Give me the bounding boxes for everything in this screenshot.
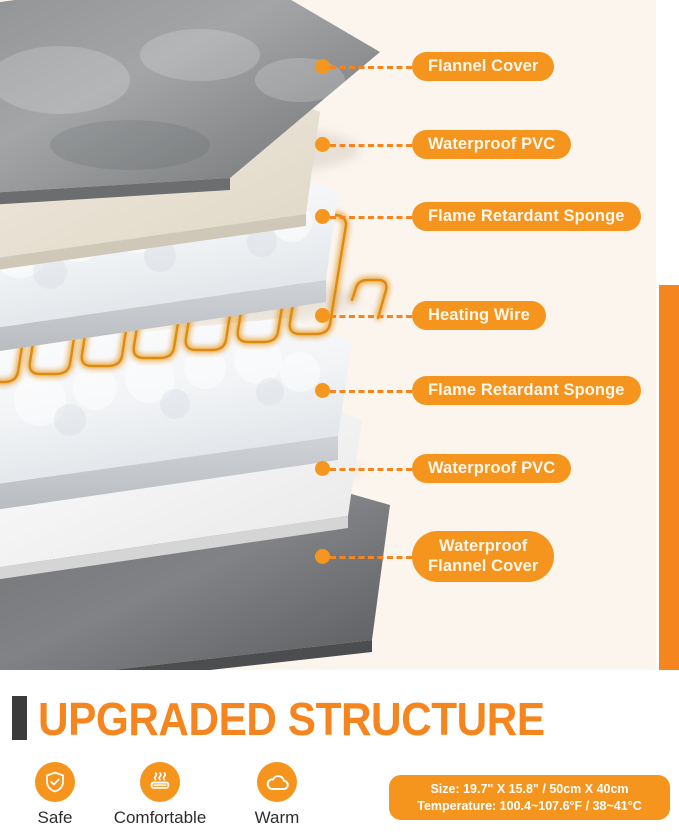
spec-temperature: Temperature: 100.4~107.6°F / 38~41°C — [417, 798, 641, 815]
leader-dot-3 — [315, 209, 330, 224]
layer-label-flame-retardant-sponge-upper: Flame Retardant Sponge — [412, 202, 641, 231]
leader-line-1 — [330, 66, 412, 69]
layer-label-flannel-cover: Flannel Cover — [412, 52, 554, 81]
cloud-icon — [257, 762, 297, 802]
feature-item-comfortable: Comfortable — [105, 762, 215, 828]
feature-list: Safe Comfortable — [0, 762, 380, 838]
layer-label-waterproof-pvc-top: Waterproof PVC — [412, 130, 571, 159]
leader-line-2 — [330, 144, 412, 147]
spec-size: Size: 19.7" X 15.8" / 50cm X 40cm — [430, 781, 628, 798]
layer-label-waterproof-pvc-bottom: Waterproof PVC — [412, 454, 571, 483]
layer-top-flannel — [0, 0, 380, 208]
page-title: UPGRADED STRUCTURE — [38, 692, 545, 746]
layer-label-heating-wire: Heating Wire — [412, 301, 546, 330]
feature-label: Safe — [0, 808, 110, 828]
heater-steam-icon — [140, 762, 180, 802]
heading-accent-bar — [12, 696, 27, 740]
exploded-view-panel: Flannel Cover Waterproof PVC Flame Retar… — [0, 0, 656, 670]
leader-line-5 — [330, 390, 412, 393]
infographic-root: Flannel Cover Waterproof PVC Flame Retar… — [0, 0, 679, 838]
leader-line-6 — [330, 468, 412, 471]
feature-label: Comfortable — [105, 808, 215, 828]
leader-line-4 — [330, 315, 412, 318]
feature-item-safe: Safe — [0, 762, 110, 828]
leader-line-3 — [330, 216, 412, 219]
feature-label: Warm — [222, 808, 332, 828]
spec-badge: Size: 19.7" X 15.8" / 50cm X 40cm Temper… — [389, 775, 670, 820]
leader-line-7 — [330, 556, 412, 559]
leader-dot-4 — [315, 308, 330, 323]
leader-dot-1 — [315, 59, 330, 74]
layer-stack-illustration — [0, 0, 420, 670]
accent-frame-vertical — [659, 285, 679, 670]
feature-item-warm: Warm — [222, 762, 332, 828]
leader-dot-6 — [315, 461, 330, 476]
layer-label-waterproof-flannel-cover: Waterproof Flannel Cover — [412, 531, 554, 582]
leader-dot-2 — [315, 137, 330, 152]
leader-dot-7 — [315, 549, 330, 564]
shield-check-icon — [35, 762, 75, 802]
layer-label-flame-retardant-sponge-lower: Flame Retardant Sponge — [412, 376, 641, 405]
section-heading: UPGRADED STRUCTURE — [0, 692, 679, 744]
leader-dot-5 — [315, 383, 330, 398]
